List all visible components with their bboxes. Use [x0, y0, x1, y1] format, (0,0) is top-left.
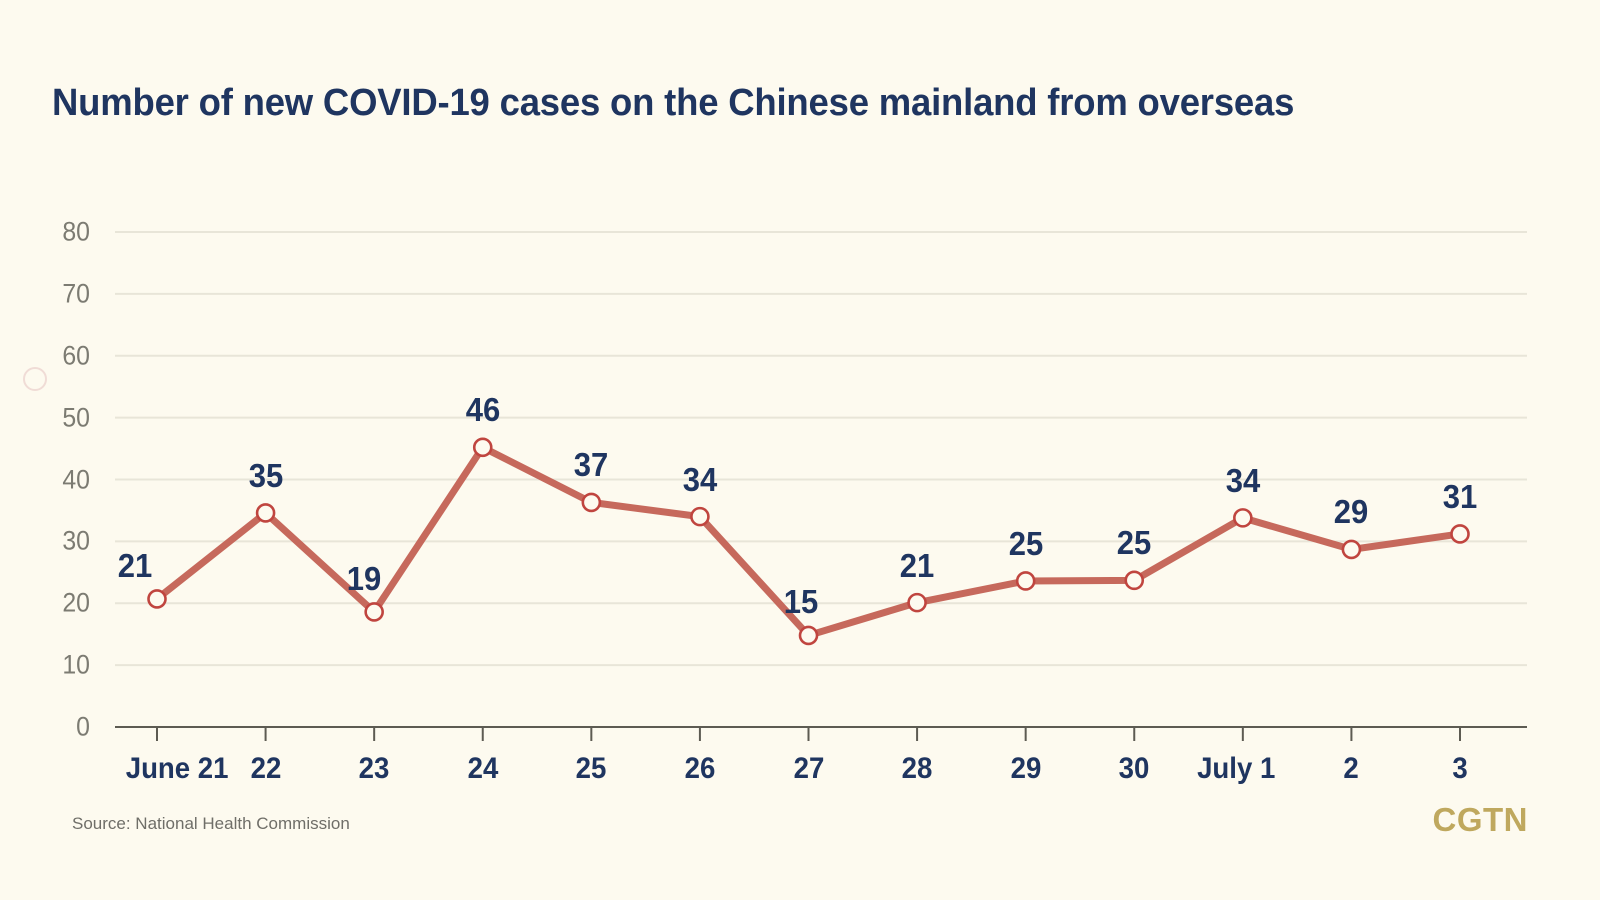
data-point-marker	[1017, 572, 1034, 589]
y-axis-tick-label: 80	[33, 217, 90, 248]
x-axis-tick-label: 3	[1452, 752, 1467, 786]
data-point-marker	[366, 603, 383, 620]
y-axis-tick-label: 30	[33, 526, 90, 557]
x-axis-tick-label: 2	[1344, 752, 1359, 786]
x-axis-tick-label: 29	[1010, 752, 1041, 786]
data-point-marker	[583, 494, 600, 511]
x-axis-tick-label: 22	[250, 752, 281, 786]
y-axis-tick-label: 20	[33, 588, 90, 619]
data-point-marker	[1452, 525, 1469, 542]
data-value-label: 25	[1008, 525, 1043, 563]
data-value-label: 37	[574, 446, 609, 484]
x-axis-tick-label: 30	[1119, 752, 1150, 786]
data-point-marker	[1343, 541, 1360, 558]
data-value-label: 21	[118, 547, 153, 585]
data-value-label: 15	[783, 583, 818, 621]
data-value-label: 34	[683, 461, 718, 499]
chart-plot-area: 01020304050607080 June 21222324252627282…	[0, 0, 1600, 900]
data-point-marker	[909, 594, 926, 611]
data-point-marker	[691, 508, 708, 525]
data-point-marker	[474, 439, 491, 456]
data-value-label: 21	[900, 547, 935, 585]
data-value-label: 19	[347, 560, 382, 598]
data-value-label: 25	[1117, 524, 1152, 562]
stray-marker-artifact	[24, 368, 46, 390]
x-axis-tick-label: June 21	[126, 752, 229, 786]
y-axis-tick-label: 60	[33, 340, 90, 371]
source-note: Source: National Health Commission	[72, 814, 350, 834]
y-axis-tick-label: 40	[33, 464, 90, 495]
data-point-marker	[257, 504, 274, 521]
y-axis-tick-label: 70	[33, 278, 90, 309]
gridlines-group	[115, 232, 1527, 665]
data-point-marker	[1126, 572, 1143, 589]
x-axis-tick-label: 23	[359, 752, 390, 786]
data-value-label: 29	[1334, 493, 1369, 531]
y-axis-tick-label: 0	[33, 712, 90, 743]
x-axis-tick-label: 25	[576, 752, 607, 786]
cgtn-logo: CGTN	[1433, 801, 1529, 839]
x-axis-tick-label: 26	[685, 752, 716, 786]
data-point-marker	[1234, 509, 1251, 526]
x-axis-tick-label: 28	[902, 752, 933, 786]
chart-infographic: Number of new COVID-19 cases on the Chin…	[0, 0, 1600, 900]
x-axis-group	[115, 727, 1527, 741]
data-point-marker	[800, 627, 817, 644]
x-axis-tick-label: July 1	[1197, 752, 1275, 786]
data-value-label: 31	[1443, 478, 1478, 516]
data-value-label: 35	[248, 457, 283, 495]
y-axis-tick-label: 10	[33, 650, 90, 681]
x-axis-tick-label: 24	[467, 752, 498, 786]
data-value-label: 46	[465, 391, 500, 429]
x-axis-tick-label: 27	[793, 752, 824, 786]
data-value-label: 34	[1226, 462, 1261, 500]
y-axis-tick-label: 50	[33, 402, 90, 433]
data-point-marker	[149, 590, 166, 607]
